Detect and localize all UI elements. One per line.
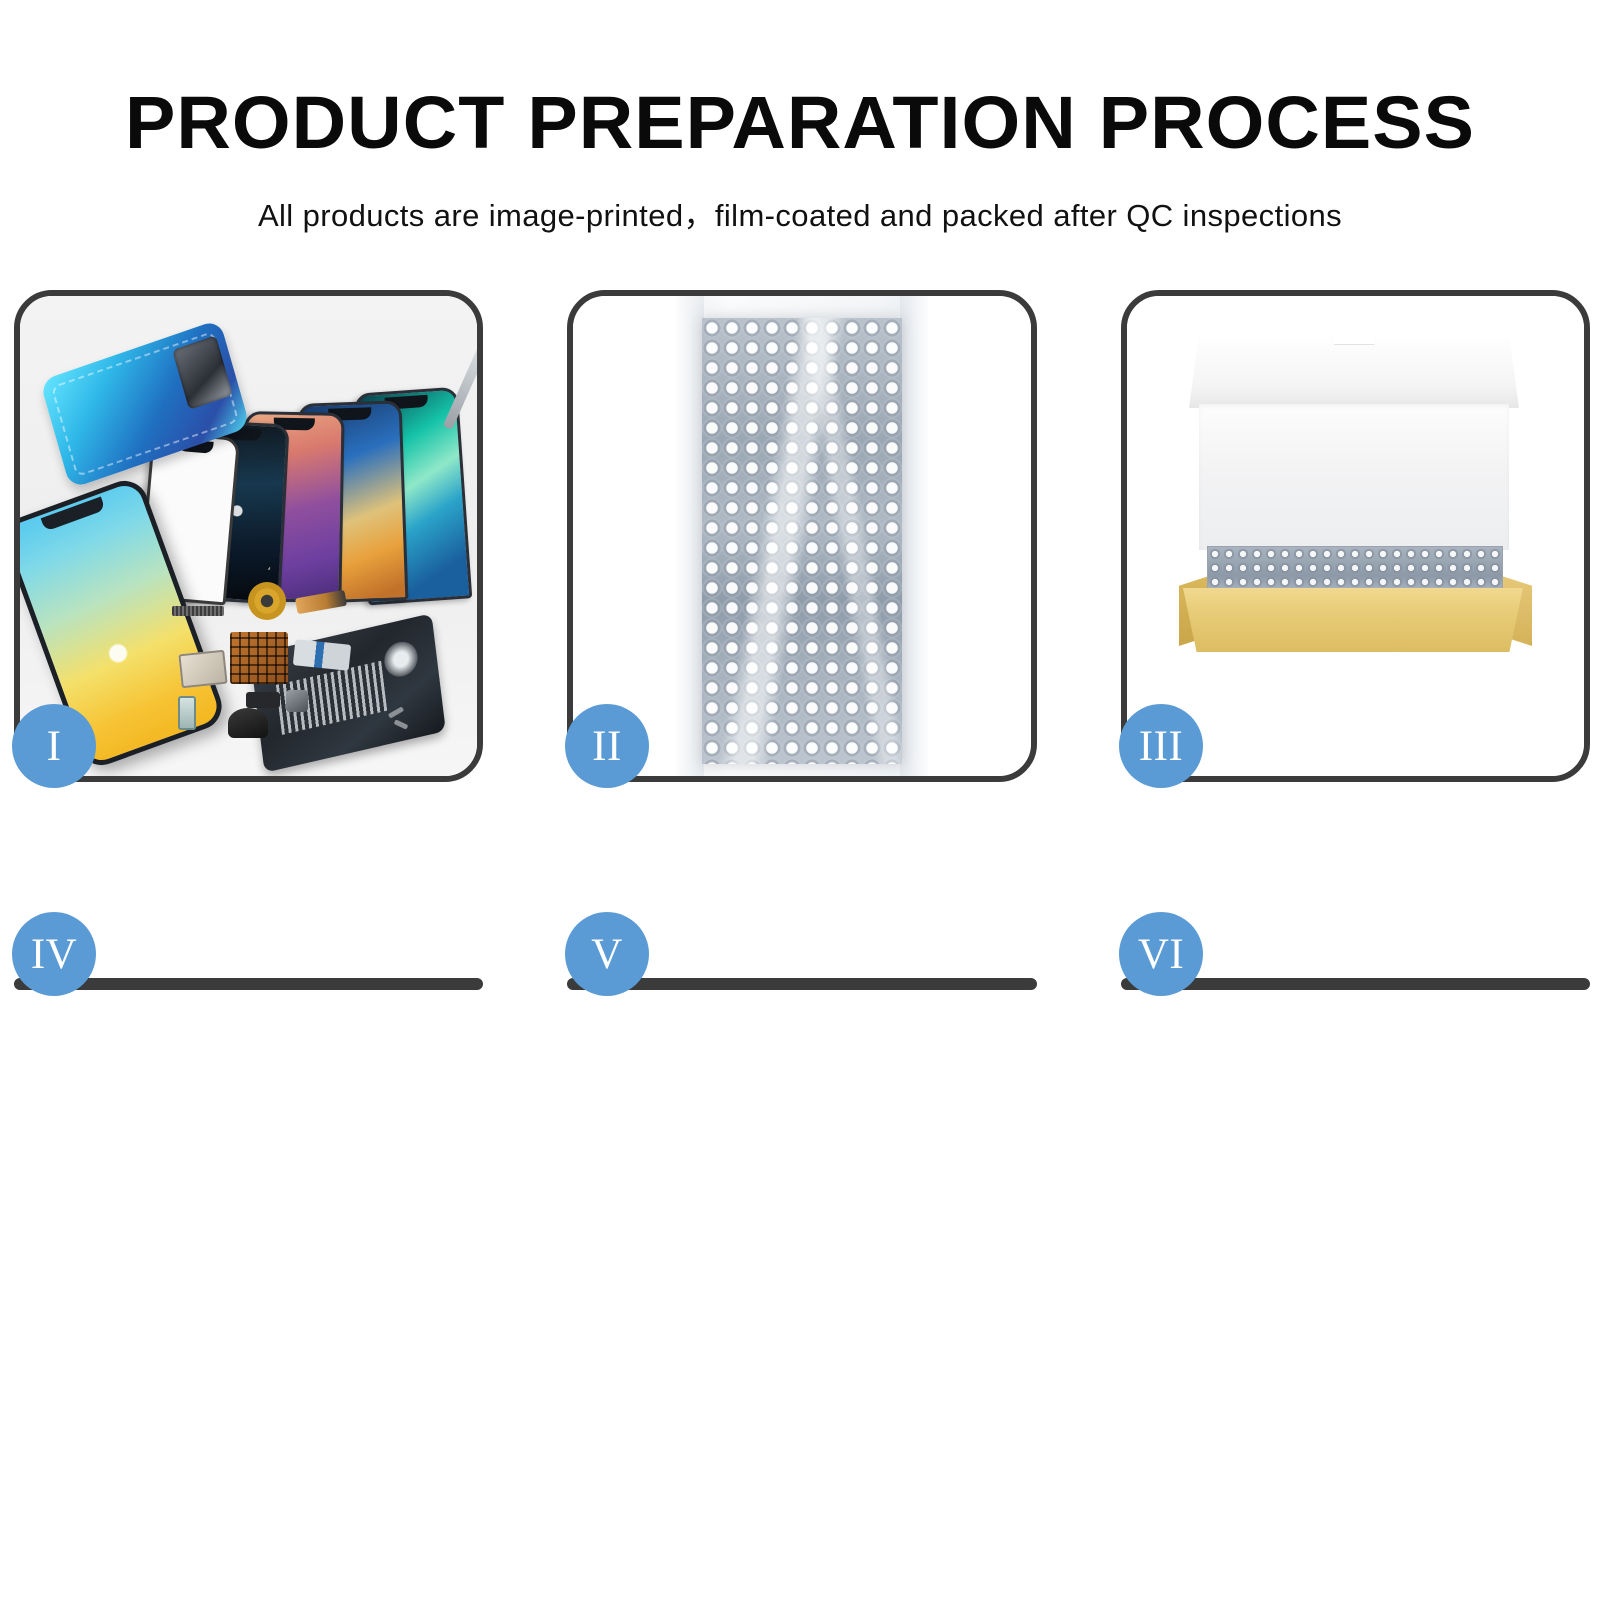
page-subtitle: All products are image-printed，film-coat… — [0, 160, 1600, 235]
small-parts-group — [170, 580, 410, 760]
box-inner-wall — [1199, 404, 1509, 550]
step-panel-2: II — [567, 290, 1037, 782]
step-panel-5: V — [567, 978, 1037, 990]
screw-icon — [388, 706, 404, 718]
steps-grid: I II III — [14, 290, 1590, 1450]
step-panel-4: Mobile Phone Spare Parts LCD Digitizer T… — [14, 978, 483, 990]
flex-cable-icon — [293, 639, 351, 671]
step-panel-3: III — [1121, 290, 1590, 782]
step-badge-2: II — [565, 704, 649, 788]
flex-cable-icon — [178, 650, 227, 689]
connector-icon — [246, 692, 280, 708]
box-lid-icon — [1189, 334, 1519, 408]
step-panel-6: VI — [1121, 978, 1590, 990]
film-edge-right — [900, 296, 928, 776]
camera-module-icon — [228, 708, 268, 738]
page-title: PRODUCT PREPARATION PROCESS — [0, 0, 1600, 160]
step-image-1 — [20, 296, 477, 776]
header: PRODUCT PREPARATION PROCESS All products… — [0, 0, 1600, 235]
box-front-panel — [1183, 588, 1523, 652]
step-panel-1: I — [14, 290, 483, 782]
wireless-coil-icon — [248, 582, 286, 620]
ic-chip-icon — [230, 632, 288, 684]
step-badge-5: V — [565, 912, 649, 996]
step-badge-1: I — [12, 704, 96, 788]
step-badge-4: IV — [12, 912, 96, 996]
step-image-2 — [573, 296, 1031, 776]
step-badge-3: III — [1119, 704, 1203, 788]
sim-tray-icon — [178, 696, 196, 730]
speaker-module-icon — [286, 690, 308, 712]
product-preparation-infographic: PRODUCT PREPARATION PROCESS All products… — [0, 0, 1600, 1600]
flex-cable-icon — [295, 590, 347, 614]
screw-icon — [394, 719, 409, 729]
connector-strip-icon — [172, 606, 224, 616]
step-image-3 — [1127, 296, 1584, 776]
step-badge-6: VI — [1119, 912, 1203, 996]
film-glare — [702, 318, 902, 764]
film-edge-left — [676, 296, 704, 776]
